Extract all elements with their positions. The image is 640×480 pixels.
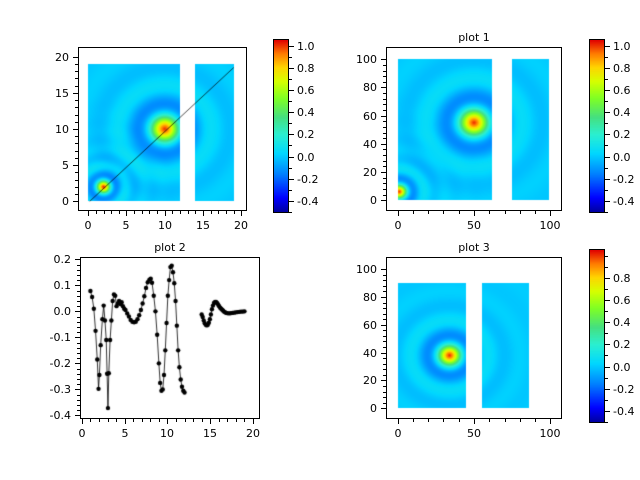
plot-title-plot3: plot 3 (386, 242, 562, 254)
colorbar-tick-label-plot3: -0.4 (613, 406, 634, 417)
y-tick-plot3 (381, 380, 386, 381)
colorbar-minor-tick-plot3 (605, 256, 608, 257)
colorbar-minor-tick-plot3 (605, 267, 608, 268)
colorbar-tick-label-plot3: 0.4 (613, 317, 631, 328)
x-minor-tick-plot3 (459, 419, 460, 422)
colorbar-minor-tick-plot3 (605, 333, 608, 334)
y-minor-tick-plot3 (383, 275, 386, 276)
y-tick-plot3 (381, 408, 386, 409)
colorbar-minor-tick-plot3 (605, 378, 608, 379)
plot-panel-plot3: plot 30204060801000501000.80.60.40.20.0-… (0, 0, 640, 480)
y-minor-tick-plot3 (383, 369, 386, 370)
y-minor-tick-plot3 (383, 397, 386, 398)
y-minor-tick-plot3 (383, 303, 386, 304)
x-tick-plot3 (550, 419, 551, 424)
colorbar-tick-plot3 (605, 278, 610, 279)
x-minor-tick-plot3 (428, 419, 429, 422)
y-minor-tick-plot3 (383, 314, 386, 315)
colorbar-tick-label-plot3: 0.0 (613, 362, 631, 373)
colorbar-tick-plot3 (605, 389, 610, 390)
y-tick-label-plot3: 0 (315, 403, 377, 414)
y-minor-tick-plot3 (383, 319, 386, 320)
colorbar-tick-plot3 (605, 300, 610, 301)
x-tick-label-plot3: 50 (444, 428, 504, 439)
y-tick-label-plot3: 80 (315, 292, 377, 303)
y-minor-tick-plot3 (383, 364, 386, 365)
x-minor-tick-plot3 (505, 419, 506, 422)
colorbar-tick-plot3 (605, 322, 610, 323)
y-minor-tick-plot3 (383, 291, 386, 292)
x-tick-label-plot3: 0 (368, 428, 428, 439)
x-minor-tick-plot3 (443, 419, 444, 422)
colorbar-minor-tick-plot3 (605, 422, 608, 423)
y-minor-tick-plot3 (383, 330, 386, 331)
y-tick-label-plot3: 60 (315, 320, 377, 331)
y-minor-tick-plot3 (383, 375, 386, 376)
colorbar-minor-tick-plot3 (605, 311, 608, 312)
axes-plot3 (386, 257, 562, 419)
y-minor-tick-plot3 (383, 341, 386, 342)
y-minor-tick-plot3 (383, 286, 386, 287)
colorbar-tick-plot3 (605, 344, 610, 345)
colorbar-minor-tick-plot3 (605, 355, 608, 356)
colorbar-tick-label-plot3: 0.2 (613, 339, 631, 350)
colorbar-tick-label-plot3: -0.2 (613, 384, 634, 395)
y-tick-label-plot3: 20 (315, 375, 377, 386)
x-tick-label-plot3: 100 (520, 428, 580, 439)
y-minor-tick-plot3 (383, 347, 386, 348)
plot-area-plot3 (387, 258, 561, 418)
colorbar-tick-plot3 (605, 367, 610, 368)
y-minor-tick-plot3 (383, 358, 386, 359)
colorbar-minor-tick-plot3 (605, 289, 608, 290)
x-tick-plot3 (398, 419, 399, 424)
y-tick-label-plot3: 100 (315, 264, 377, 275)
colorbar-minor-tick-plot3 (605, 400, 608, 401)
y-minor-tick-plot3 (383, 308, 386, 309)
colorbar-tick-label-plot3: 0.8 (613, 273, 631, 284)
colorbar-gradient-plot3 (590, 250, 604, 422)
y-minor-tick-plot3 (383, 392, 386, 393)
y-tick-label-plot3: 40 (315, 348, 377, 359)
x-minor-tick-plot3 (520, 419, 521, 422)
figure-canvas: 05101520051015201.00.80.60.40.20.0-0.2-0… (0, 0, 640, 480)
colorbar-plot3 (589, 249, 605, 423)
x-minor-tick-plot3 (489, 419, 490, 422)
y-tick-plot3 (381, 269, 386, 270)
x-minor-tick-plot3 (413, 419, 414, 422)
y-minor-tick-plot3 (383, 386, 386, 387)
y-tick-plot3 (381, 297, 386, 298)
x-minor-tick-plot3 (535, 419, 536, 422)
y-tick-plot3 (381, 353, 386, 354)
y-minor-tick-plot3 (383, 403, 386, 404)
colorbar-tick-label-plot3: 0.6 (613, 295, 631, 306)
y-minor-tick-plot3 (383, 336, 386, 337)
y-tick-plot3 (381, 325, 386, 326)
x-tick-plot3 (474, 419, 475, 424)
y-minor-tick-plot3 (383, 280, 386, 281)
colorbar-tick-plot3 (605, 411, 610, 412)
